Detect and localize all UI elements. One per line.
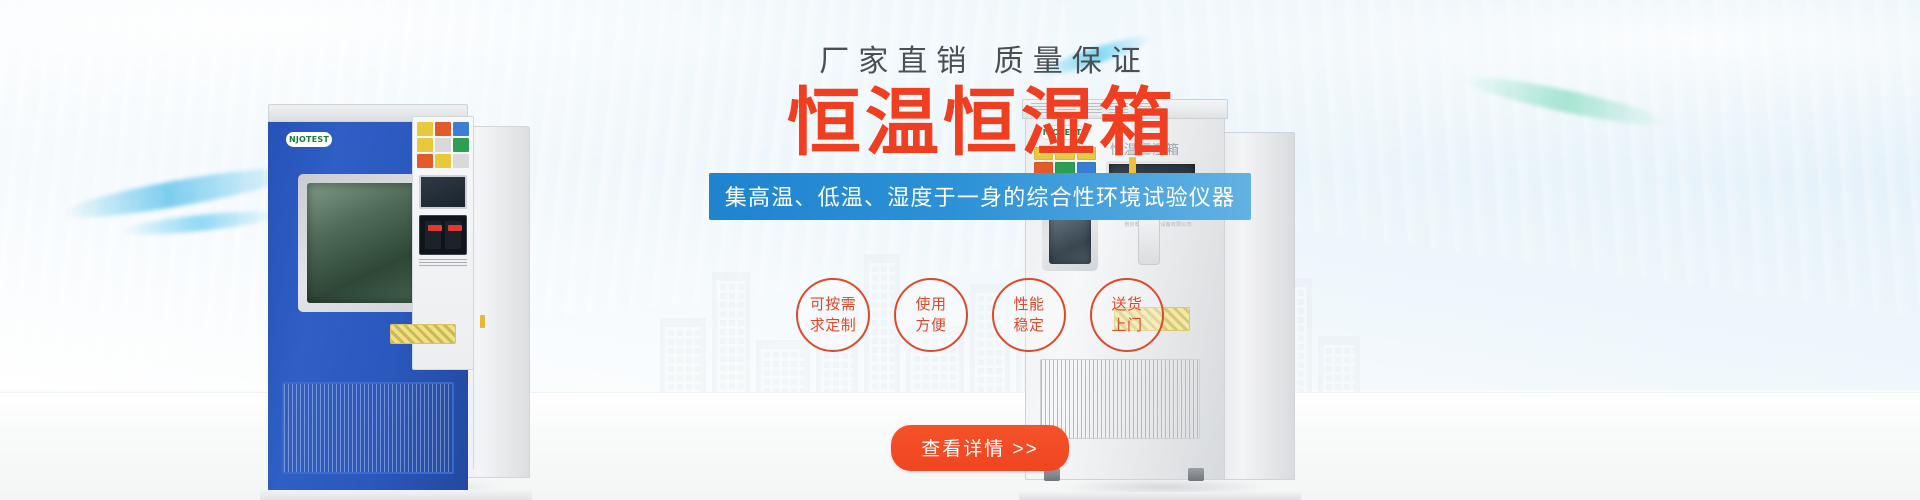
- banner-tagline: 厂家直销 质量保证: [700, 46, 1260, 78]
- promo-banner: NJOTEST: [0, 0, 1920, 500]
- left-machine-viewing-glass: [307, 183, 417, 303]
- right-machine-door-handle: [1138, 213, 1160, 265]
- left-machine-display-screen: [419, 175, 467, 209]
- left-machine-nameplate: [419, 259, 467, 268]
- badge-line-2: 求定制: [810, 315, 857, 336]
- left-machine-base: [260, 490, 532, 500]
- left-machine-vent-grille: [282, 382, 454, 474]
- feature-badge-group: 可按需 求定制 使用 方便 性能 稳定 送货 上门: [700, 278, 1260, 352]
- feature-badge-easy-use[interactable]: 使用 方便: [894, 278, 968, 352]
- badge-line-2: 上门: [1111, 315, 1142, 336]
- badge-line-2: 稳定: [1013, 315, 1044, 336]
- left-machine-warning-stickers: [417, 122, 469, 168]
- badge-line-1: 送货: [1111, 294, 1142, 315]
- left-machine-side-indicator: [480, 315, 485, 328]
- view-details-button[interactable]: 查看详情 >>: [891, 425, 1068, 471]
- badge-line-2: 方便: [915, 315, 946, 336]
- banner-copy-block: 厂家直销 质量保证 恒温恒湿箱 集高温、低温、湿度于一身的综合性环境试验仪器: [700, 46, 1260, 220]
- badge-line-1: 性能: [1013, 294, 1044, 315]
- badge-line-1: 可按需: [810, 294, 857, 315]
- left-machine-door: [298, 174, 426, 312]
- cta-area: 查看详情 >>: [700, 425, 1260, 471]
- banner-subtitle: 集高温、低温、湿度于一身的综合性环境试验仪器: [709, 173, 1251, 220]
- brand-logo-left: NJOTEST: [286, 132, 332, 147]
- feature-badge-delivery[interactable]: 送货 上门: [1090, 278, 1164, 352]
- product-image-left-chamber: NJOTEST: [262, 100, 530, 492]
- left-machine-hazard-label: [390, 324, 456, 344]
- left-machine-body: NJOTEST: [268, 120, 468, 492]
- feature-badge-custom[interactable]: 可按需 求定制: [796, 278, 870, 352]
- banner-headline: 恒温恒湿箱: [700, 82, 1260, 165]
- right-machine-base: [1019, 492, 1301, 500]
- feature-badge-stable[interactable]: 性能 稳定: [992, 278, 1066, 352]
- badge-line-1: 使用: [915, 294, 946, 315]
- left-machine-digital-readout: [419, 215, 467, 255]
